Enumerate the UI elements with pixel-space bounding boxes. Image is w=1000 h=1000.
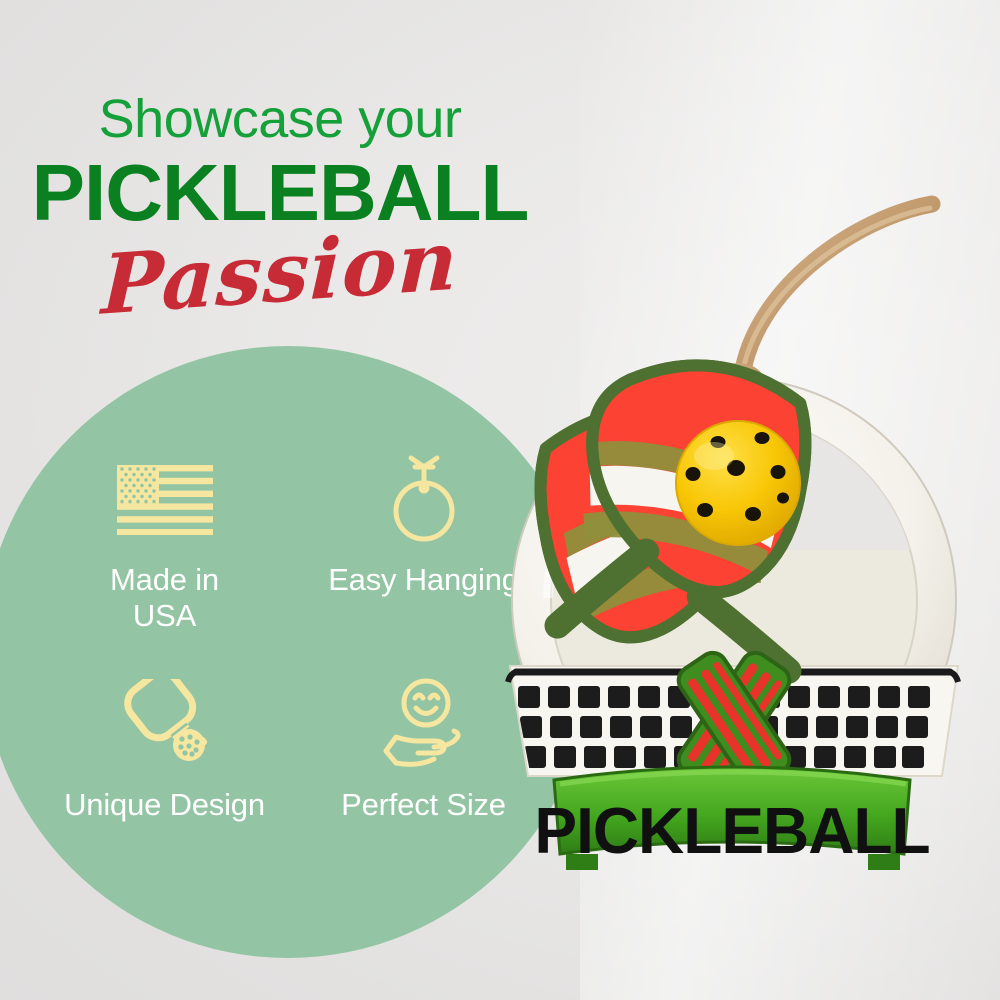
pickleball-ball (676, 421, 800, 545)
pickleball-banner: PICKLEBALL (534, 767, 929, 870)
feature-label: Made in USA (110, 562, 219, 633)
ornament-hook-icon (381, 452, 467, 548)
feature-label: Unique Design (64, 787, 265, 823)
poster-canvas: Showcase your PICKLEBALL Passion (0, 0, 1000, 1000)
hand-smiley-icon (374, 677, 474, 773)
headline-line-1: Showcase your (0, 92, 560, 147)
usa-flag-icon (117, 452, 213, 548)
pickleball-ornament: PICKLEBALL (470, 180, 1000, 880)
feature-unique-design: Unique Design (38, 677, 291, 823)
pickleball-paddle-icon (113, 677, 217, 773)
feature-made-in-usa: Made in USA (38, 452, 291, 633)
